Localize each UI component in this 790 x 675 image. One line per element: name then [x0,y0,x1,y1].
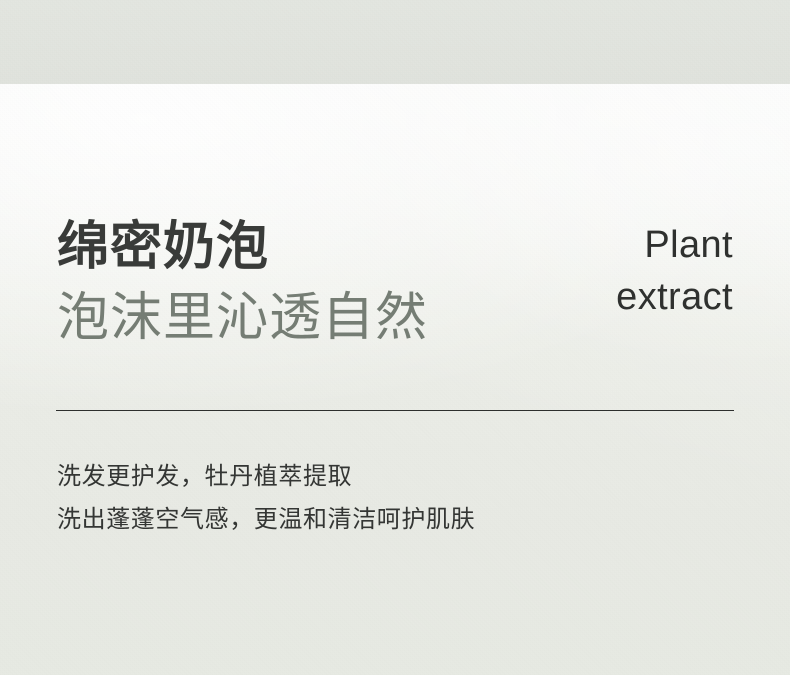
banner-content: 绵密奶泡 泡沫里沁透自然 Plant extract 洗发更护发，牡丹植萃提取 … [0,0,790,675]
horizontal-divider [56,410,734,411]
english-accent-text: Plant extract [433,219,733,323]
english-accent-line-1: Plant [433,219,733,271]
english-accent-line-2: extract [433,271,733,323]
description-group: 洗发更护发，牡丹植萃提取 洗出蓬蓬空气感，更温和清洁呵护肌肤 [57,455,717,541]
description-line-1: 洗发更护发，牡丹植萃提取 [57,455,717,498]
description-line-2: 洗出蓬蓬空气感，更温和清洁呵护肌肤 [57,498,717,541]
product-detail-banner: 绵密奶泡 泡沫里沁透自然 Plant extract 洗发更护发，牡丹植萃提取 … [0,0,790,675]
